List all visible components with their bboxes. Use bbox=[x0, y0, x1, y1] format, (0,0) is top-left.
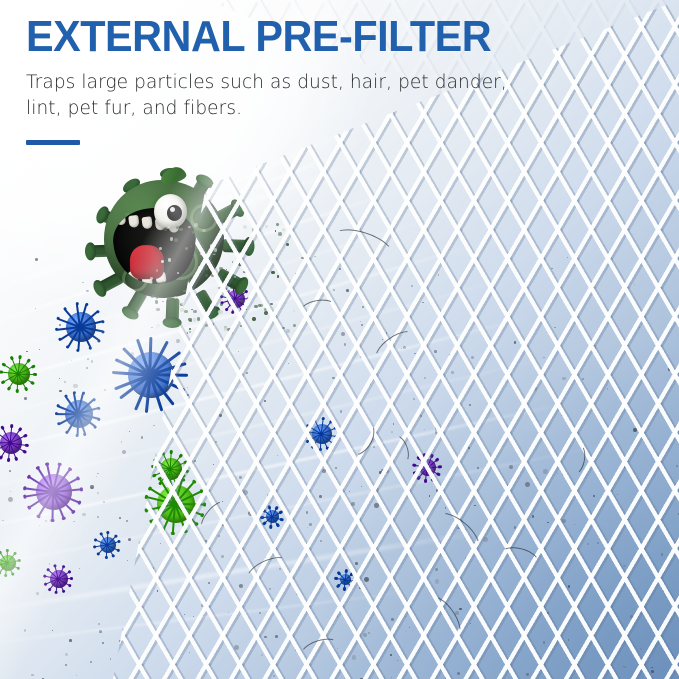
text-block: EXTERNAL PRE-FILTER Traps large particle… bbox=[26, 14, 586, 145]
subtitle-line-2: lint, pet fur, and fibers. bbox=[26, 98, 242, 119]
page-title: EXTERNAL PRE-FILTER bbox=[26, 14, 552, 60]
subtitle: Traps large particles such as dust, hair… bbox=[26, 70, 571, 123]
accent-bar bbox=[26, 140, 80, 145]
subtitle-line-1: Traps large particles such as dust, hair… bbox=[26, 72, 507, 93]
product-feature-image: EXTERNAL PRE-FILTER Traps large particle… bbox=[0, 0, 679, 679]
